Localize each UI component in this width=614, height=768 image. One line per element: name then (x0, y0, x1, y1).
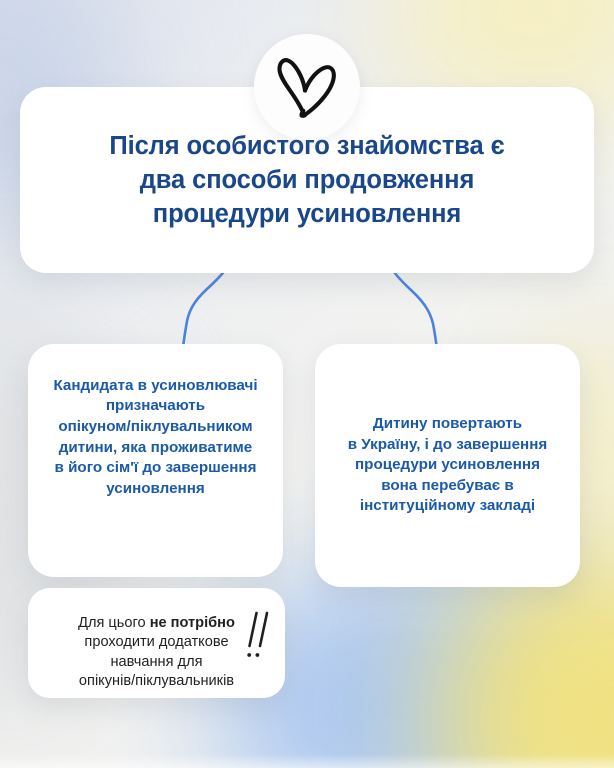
heart-icon (270, 53, 344, 121)
note-text-rest: проходити додаткове навчання для опікуні… (79, 634, 234, 689)
note-card: Для цього не потрібно проходити додатков… (28, 588, 285, 698)
note-text-prefix: Для цього (78, 615, 150, 631)
branch-card-left-text: Кандидата в усиновлювачі призначають опі… (53, 376, 257, 499)
background-bottom-fade (0, 754, 614, 768)
note-card-text: Для цього не потрібно проходити додатков… (78, 594, 235, 691)
branch-card-right-text: Дитину повертають в Україну, і до заверш… (348, 414, 547, 517)
heart-badge (254, 34, 360, 140)
branch-card-right: Дитину повертають в Україну, і до заверш… (315, 344, 580, 587)
page-title: Після особистого знайомства є два способ… (109, 129, 504, 231)
note-text-emphasis: не потрібно (150, 615, 235, 631)
branch-card-left: Кандидата в усиновлювачі призначають опі… (28, 344, 283, 577)
double-exclamation-icon (245, 610, 275, 666)
